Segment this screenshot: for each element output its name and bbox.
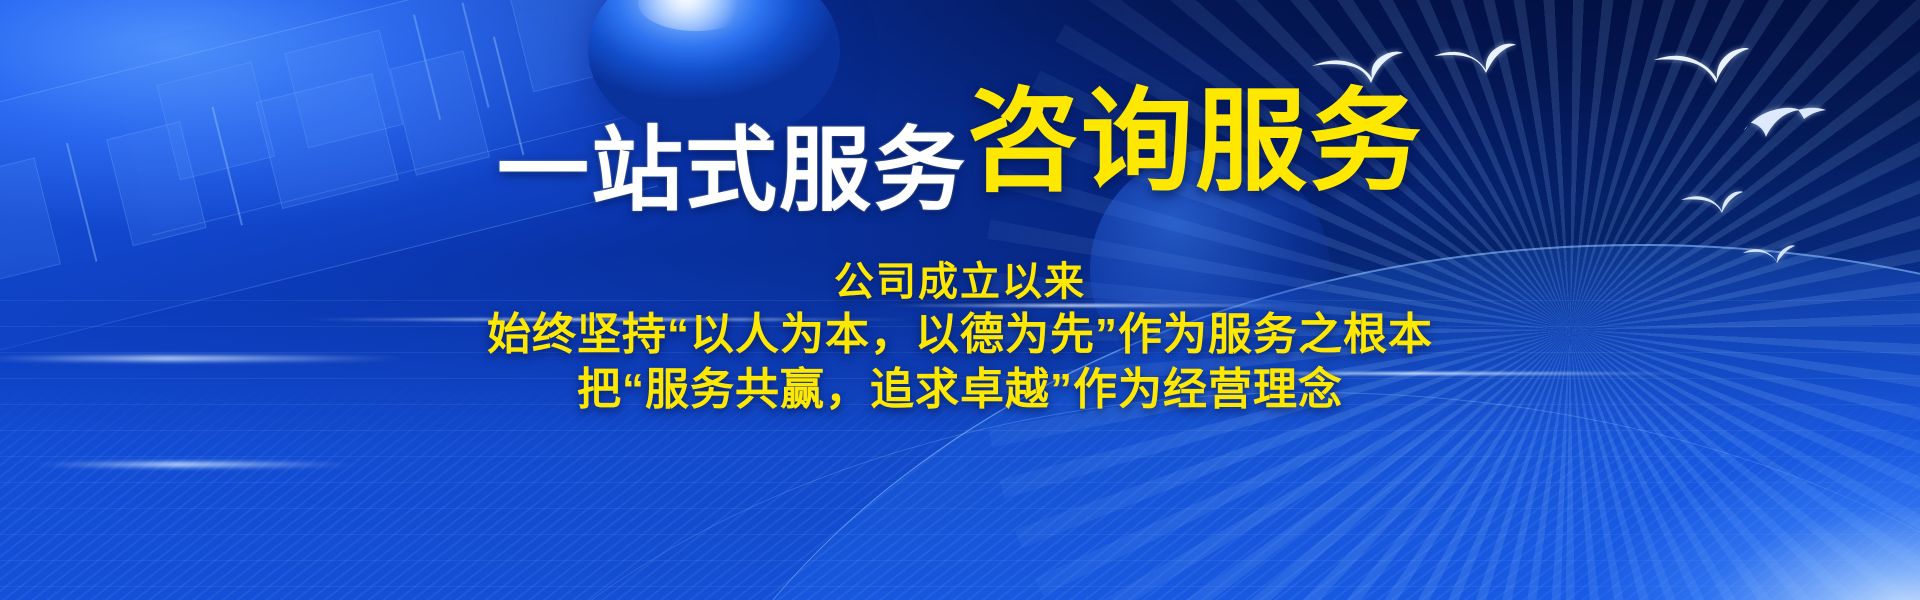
body-line-3: 把“服务共赢，追求卓越”作为经营理念 xyxy=(0,362,1920,417)
headline-white-text: 一站式服务 xyxy=(497,125,967,217)
body-line-1: 公司成立以来 xyxy=(0,258,1920,307)
promotional-banner: 一站式服务 咨询服务 公司成立以来 始终坚持“以人为本，以德为先”作为服务之根本… xyxy=(0,0,1920,600)
seagull-icon-2 xyxy=(1432,42,1518,74)
light-streak-3 xyxy=(30,462,360,467)
seagull-icon-3 xyxy=(1652,46,1750,84)
body-line-2: 始终坚持“以人为本，以德为先”作为服务之根本 xyxy=(0,307,1920,362)
headline-yellow-text: 咨询服务 xyxy=(967,86,1423,198)
headline: 一站式服务 咨询服务 xyxy=(0,86,1920,198)
body-text-block: 公司成立以来 始终坚持“以人为本，以德为先”作为服务之根本 把“服务共赢，追求卓… xyxy=(0,258,1920,417)
